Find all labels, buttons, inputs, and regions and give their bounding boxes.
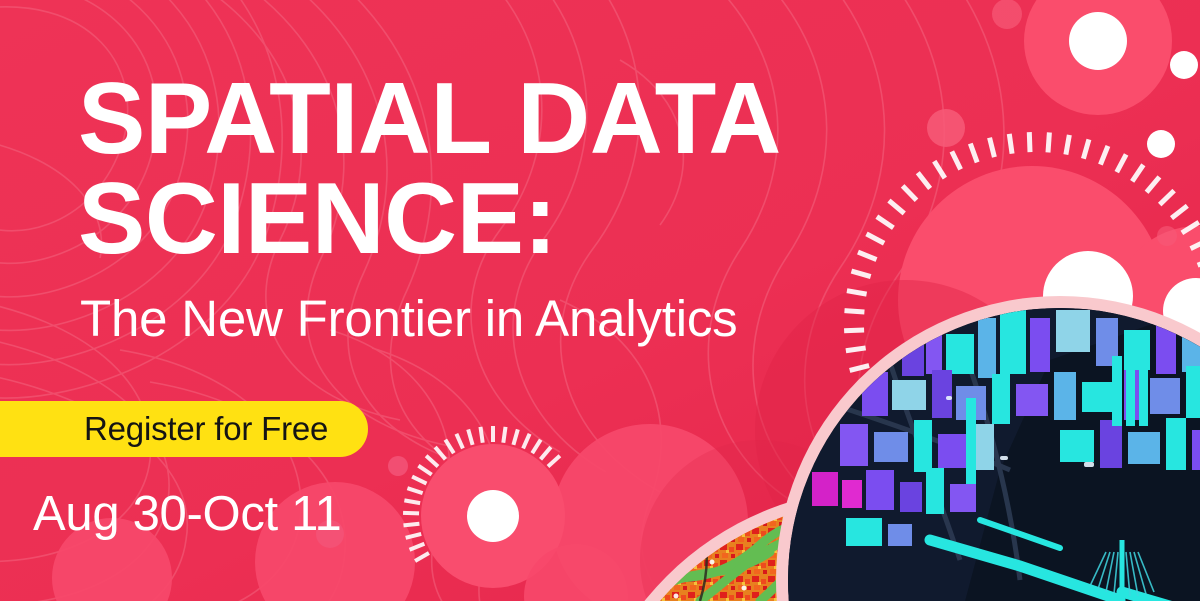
subtitle: The New Frontier in Analytics — [80, 291, 737, 347]
register-for-free-button[interactable]: Register for Free — [0, 401, 368, 457]
promo-banner: SPATIAL DATA SCIENCE: The New Frontier i… — [0, 0, 1200, 601]
event-date-range: Aug 30-Oct 11 — [33, 486, 341, 542]
banner-content: SPATIAL DATA SCIENCE: The New Frontier i… — [0, 0, 1200, 601]
page-title: SPATIAL DATA SCIENCE: — [78, 69, 858, 269]
